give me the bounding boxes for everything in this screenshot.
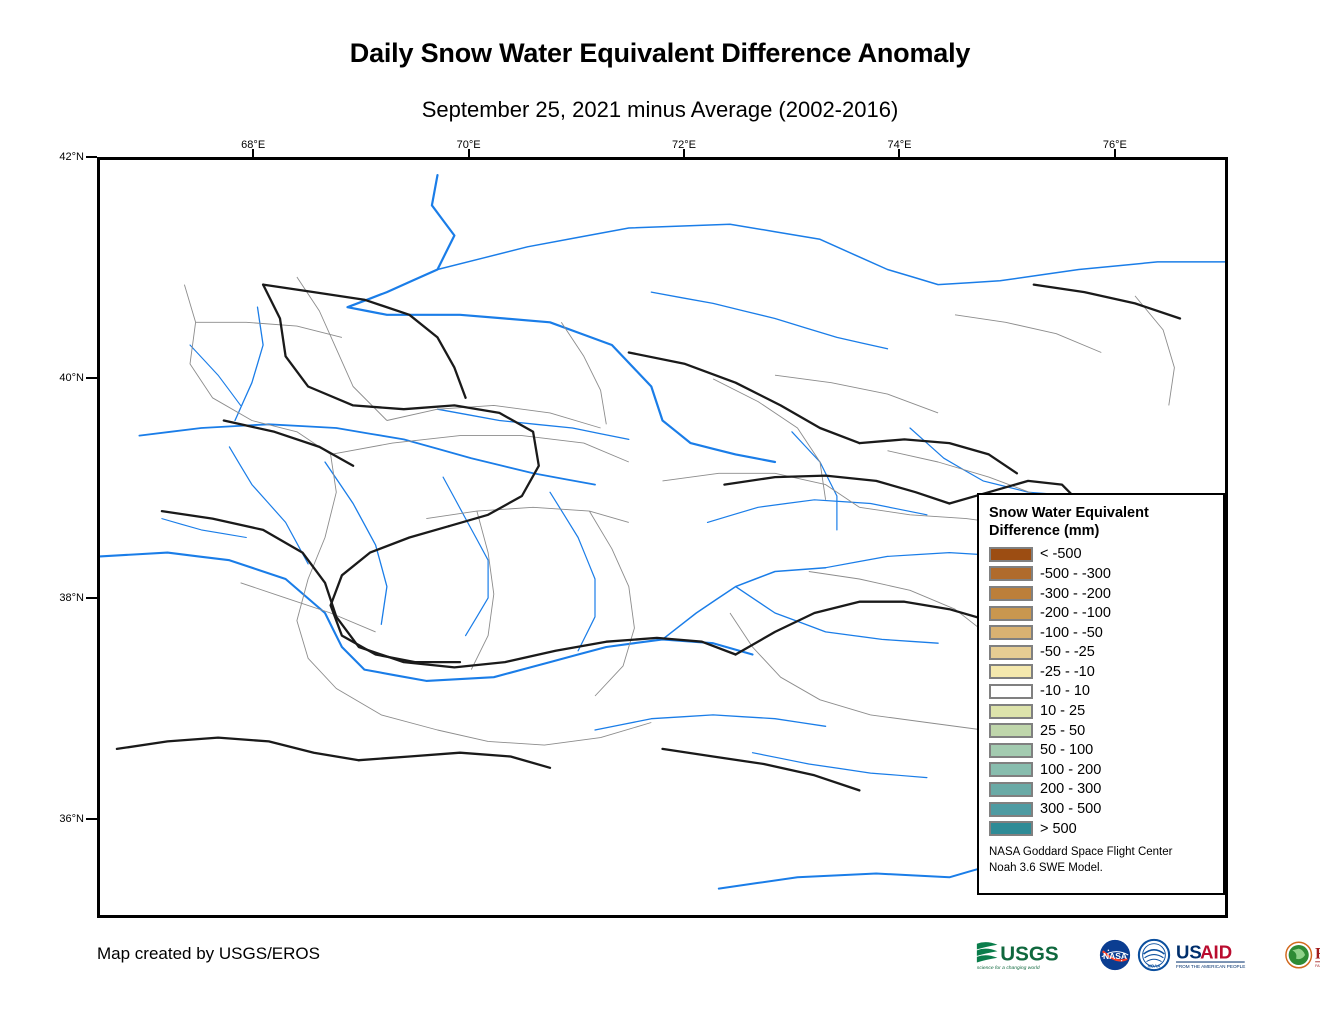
legend-swatch [989,625,1033,640]
svg-text:USGS: USGS [1000,943,1058,966]
legend-label: -100 - -50 [1040,625,1103,641]
legend-row: -300 - -200 [989,584,1213,604]
legend-row: -50 - -25 [989,643,1213,663]
legend-swatch [989,547,1033,562]
legend-label: -50 - -25 [1040,644,1095,660]
legend-row: < -500 [989,545,1213,565]
legend-row: -500 - -300 [989,564,1213,584]
lon-tick-label: 70°E [457,139,481,151]
lat-tick [86,818,97,820]
legend-label: -25 - -10 [1040,664,1095,680]
legend-row: 100 - 200 [989,760,1213,780]
lat-tick-label: 42°N [59,151,84,163]
legend-swatch [989,684,1033,699]
legend-row: 200 - 300 [989,780,1213,800]
legend-label: 100 - 200 [1040,762,1101,778]
svg-text:US: US [1176,942,1202,963]
legend-label: 50 - 100 [1040,742,1093,758]
legend-label: 10 - 25 [1040,703,1085,719]
usaid-logo: US AID FROM THE AMERICAN PEOPLE [1176,938,1280,972]
legend-row: -25 - -10 [989,662,1213,682]
legend-swatch [989,566,1033,581]
lat-tick-label: 38°N [59,592,84,604]
legend-label: -10 - 10 [1040,683,1090,699]
legend-swatch [989,586,1033,601]
page-subtitle: September 25, 2021 minus Average (2002-2… [0,97,1320,123]
legend-swatch [989,704,1033,719]
svg-text:NOAA: NOAA [1148,963,1162,968]
legend-label: -500 - -300 [1040,566,1111,582]
legend-swatch [989,762,1033,777]
legend-label: < -500 [1040,546,1082,562]
legend-swatch [989,782,1033,797]
fewsnet-logo: FEWS NET FAMINE EARLY WARNING SYSTEMS NE… [1285,938,1320,972]
legend-swatch [989,606,1033,621]
legend-class-list: < -500-500 - -300-300 - -200-200 - -100-… [989,545,1213,839]
nasa-logo: NASA [1098,938,1132,972]
lat-tick [86,156,97,158]
svg-text:FEWS NET: FEWS NET [1315,946,1320,963]
legend-title-line1: Snow Water Equivalent [989,504,1213,522]
legend-row: 50 - 100 [989,740,1213,760]
legend-swatch [989,802,1033,817]
legend-row: > 500 [989,819,1213,839]
legend-swatch [989,821,1033,836]
legend-row: -200 - -100 [989,603,1213,623]
legend-row: -100 - -50 [989,623,1213,643]
svg-text:science for a changing world: science for a changing world [977,965,1040,971]
page-title: Daily Snow Water Equivalent Difference A… [0,38,1320,69]
legend-panel: Snow Water Equivalent Difference (mm) < … [977,493,1225,895]
lon-tick-label: 72°E [672,139,696,151]
lat-tick-label: 40°N [59,372,84,384]
legend-label: 25 - 50 [1040,723,1085,739]
lat-tick-label: 36°N [59,813,84,825]
legend-label: -200 - -100 [1040,605,1111,621]
legend-swatch [989,743,1033,758]
legend-swatch [989,645,1033,660]
legend-row: 25 - 50 [989,721,1213,741]
lon-tick-label: 74°E [887,139,911,151]
agency-logo-strip: USGS science for a changing world NASA N… [975,936,1320,974]
legend-title-line2: Difference (mm) [989,522,1213,540]
lon-tick-label: 68°E [241,139,265,151]
svg-text:FROM THE AMERICAN PEOPLE: FROM THE AMERICAN PEOPLE [1176,964,1245,969]
legend-label: 200 - 300 [1040,781,1101,797]
legend-row: 10 - 25 [989,701,1213,721]
lat-tick [86,597,97,599]
svg-text:AID: AID [1200,942,1232,963]
usgs-logo: USGS science for a changing world [975,938,1093,972]
legend-label: > 500 [1040,821,1077,837]
svg-text:NASA: NASA [1103,951,1127,961]
svg-text:FAMINE EARLY WARNING SYSTEMS N: FAMINE EARLY WARNING SYSTEMS NETWORK [1315,964,1320,968]
legend-note: NASA Goddard Space Flight Center Noah 3.… [989,845,1213,876]
legend-label: -300 - -200 [1040,586,1111,602]
lat-tick [86,377,97,379]
legend-note-line1: NASA Goddard Space Flight Center [989,845,1213,860]
legend-swatch [989,723,1033,738]
legend-label: 300 - 500 [1040,801,1101,817]
legend-title: Snow Water Equivalent Difference (mm) [989,504,1213,541]
legend-swatch [989,664,1033,679]
legend-row: -10 - 10 [989,682,1213,702]
lon-tick-label: 76°E [1103,139,1127,151]
legend-row: 300 - 500 [989,799,1213,819]
map-credit: Map created by USGS/EROS [97,944,320,964]
noaa-logo: NOAA [1137,938,1171,972]
legend-note-line2: Noah 3.6 SWE Model. [989,861,1213,876]
